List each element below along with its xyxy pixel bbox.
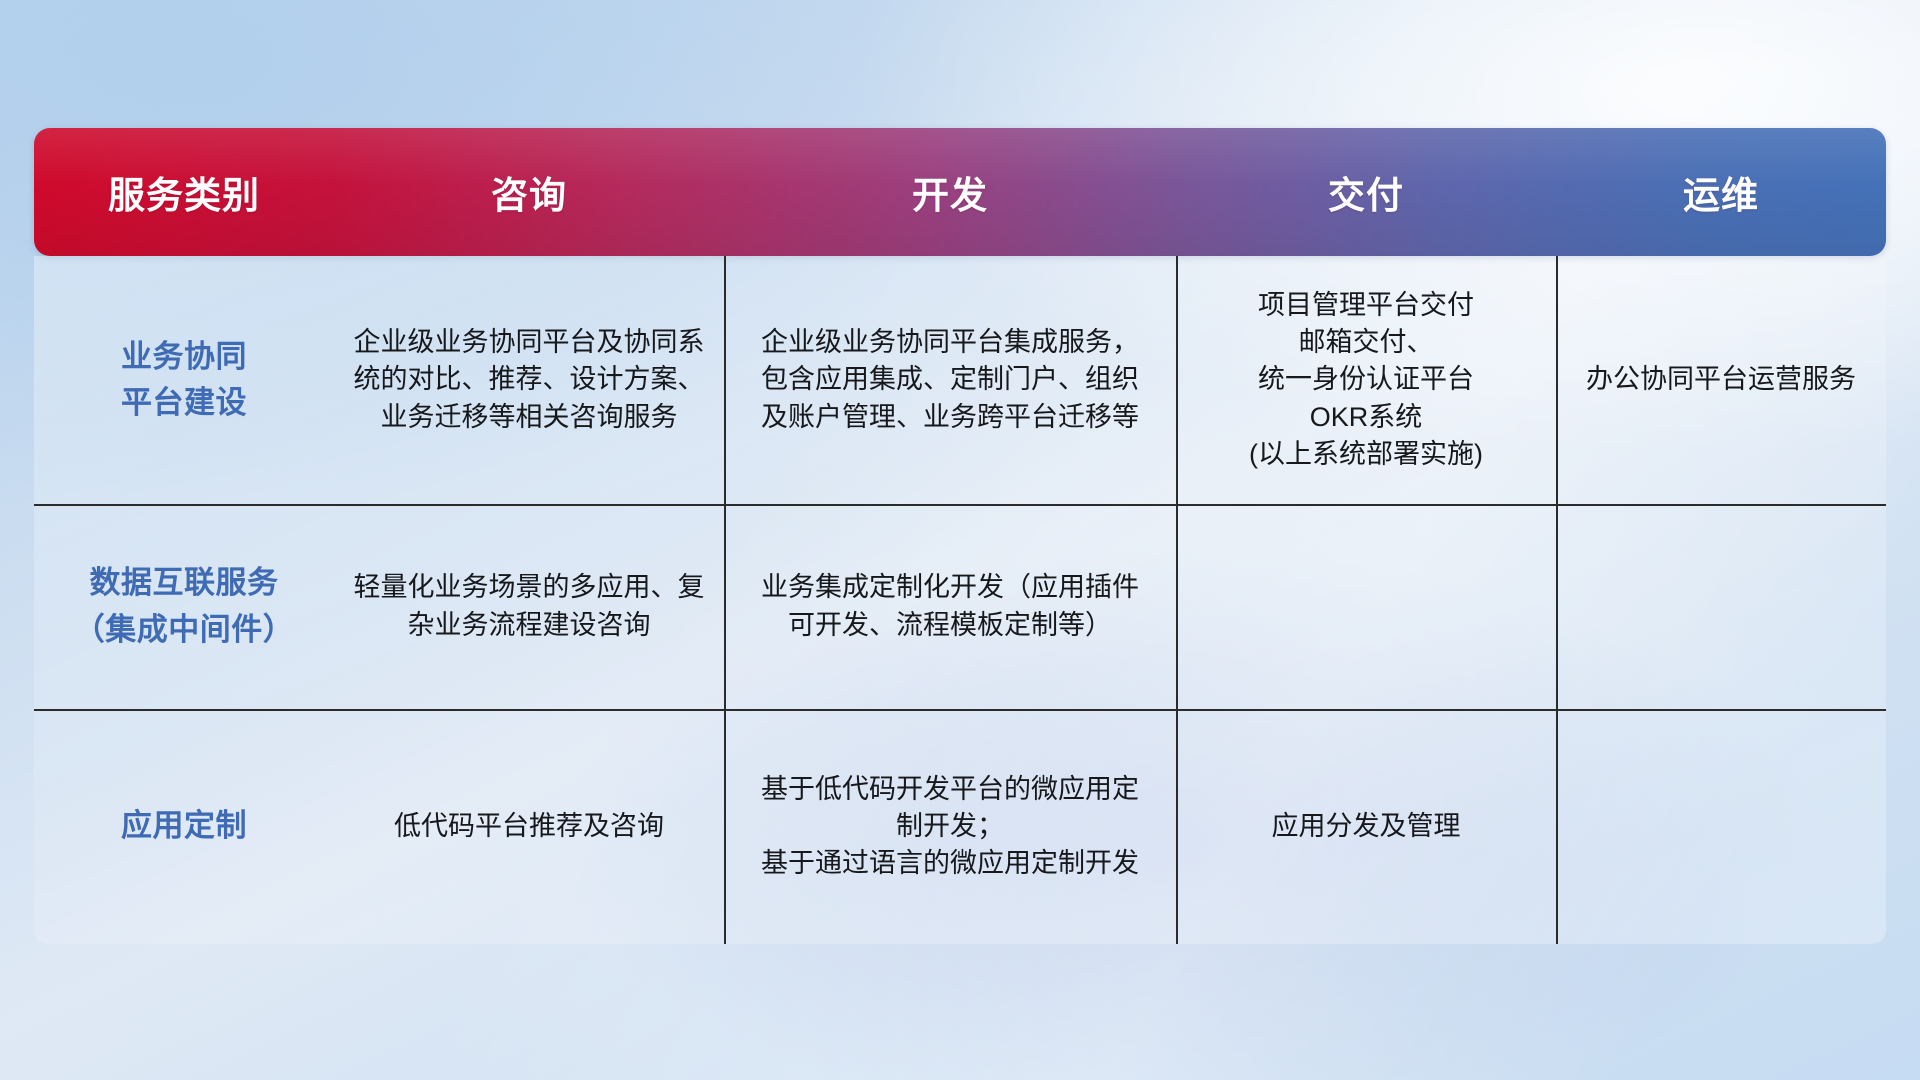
cell-delivery-row1: 项目管理平台交付 邮箱交付、 统一身份认证平台 OKR系统 (以上系统部署实施) <box>1176 256 1556 504</box>
column-header-consulting: 咨询 <box>334 165 724 219</box>
table-row: 应用定制 低代码平台推荐及咨询 基于低代码开发平台的微应用定 制开发； 基于通过… <box>34 709 1886 944</box>
table-body: 业务协同 平台建设 企业级业务协同平台及协同系 统的对比、推荐、设计方案、 业务… <box>34 256 1886 944</box>
row-label-data-interconnect: 数据互联服务 （集成中间件） <box>34 504 334 709</box>
cell-delivery-row2 <box>1176 504 1556 709</box>
cell-development-row2: 业务集成定制化开发（应用插件 可开发、流程模板定制等） <box>724 504 1176 709</box>
column-header-operations: 运维 <box>1556 165 1886 219</box>
table-row: 业务协同 平台建设 企业级业务协同平台及协同系 统的对比、推荐、设计方案、 业务… <box>34 256 1886 504</box>
cell-development-row1: 企业级业务协同平台集成服务， 包含应用集成、定制门户、组织 及账户管理、业务跨平… <box>724 256 1176 504</box>
cell-operations-row3 <box>1556 709 1886 944</box>
cell-consulting-row1: 企业级业务协同平台及协同系 统的对比、推荐、设计方案、 业务迁移等相关咨询服务 <box>334 256 724 504</box>
row-label-app-customization: 应用定制 <box>34 709 334 944</box>
column-header-delivery: 交付 <box>1176 165 1556 219</box>
cell-operations-row1: 办公协同平台运营服务 <box>1556 256 1886 504</box>
row-label-business-collaboration: 业务协同 平台建设 <box>34 256 334 504</box>
column-header-development: 开发 <box>724 165 1176 219</box>
table-header-row: 服务类别 咨询 开发 交付 运维 <box>34 128 1886 256</box>
column-header-service-category: 服务类别 <box>34 165 334 219</box>
cell-consulting-row2: 轻量化业务场景的多应用、复 杂业务流程建设咨询 <box>334 504 724 709</box>
cell-consulting-row3: 低代码平台推荐及咨询 <box>334 709 724 944</box>
table-row: 数据互联服务 （集成中间件） 轻量化业务场景的多应用、复 杂业务流程建设咨询 业… <box>34 504 1886 709</box>
cell-operations-row2 <box>1556 504 1886 709</box>
cell-delivery-row3: 应用分发及管理 <box>1176 709 1556 944</box>
service-matrix-table: 服务类别 咨询 开发 交付 运维 业务协同 平台建设 企业级业务协同平台及协同系… <box>34 128 1886 948</box>
cell-development-row3: 基于低代码开发平台的微应用定 制开发； 基于通过语言的微应用定制开发 <box>724 709 1176 944</box>
